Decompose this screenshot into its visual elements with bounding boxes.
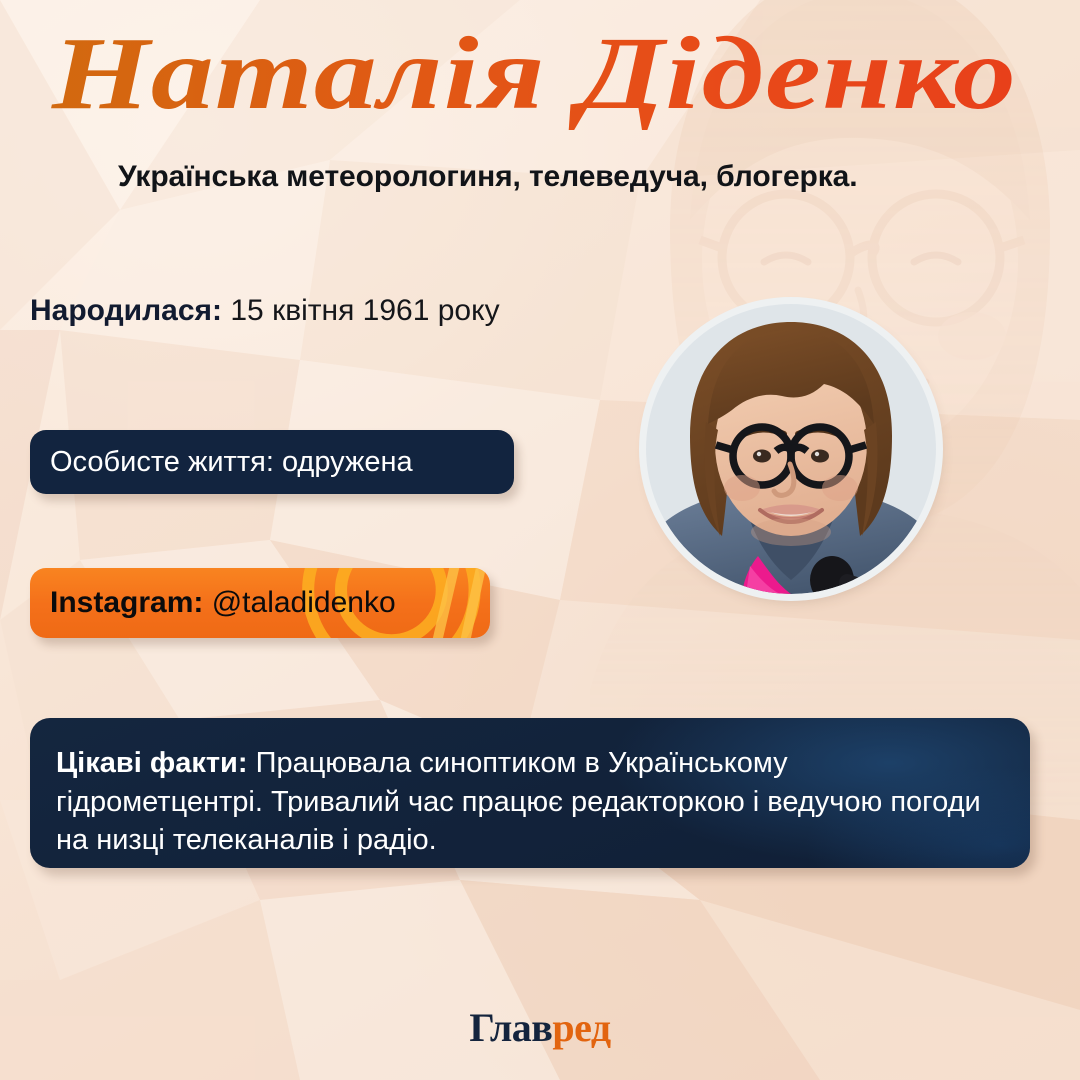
brand-logo[interactable]: Главред <box>0 1008 1080 1048</box>
born-line: Народилася: 15 квітня 1961 року <box>30 294 500 328</box>
brand-logo-part-b: ред <box>552 1005 610 1050</box>
portrait-avatar <box>646 304 936 594</box>
page-subtitle: Українська метеорологиня, телеведуча, бл… <box>118 160 858 194</box>
infographic-card: Наталія Діденко Українська метеорологиня… <box>0 0 1080 1080</box>
instagram-label: Instagram: <box>50 586 203 619</box>
born-value: 15 квітня 1961 року <box>230 294 499 327</box>
personal-life-badge: Особисте життя: одружена <box>30 430 514 494</box>
instagram-text: Instagram: @taladidenko <box>50 586 396 620</box>
page-title: Наталія Діденко <box>52 16 1042 136</box>
born-label: Народилася: <box>30 294 222 327</box>
instagram-badge[interactable]: Instagram: @taladidenko <box>30 568 490 638</box>
personal-life-text: Особисте життя: одружена <box>50 446 413 479</box>
facts-label: Цікаві факти: <box>56 747 248 779</box>
facts-content: Цікаві факти: Працювала синоптиком в Укр… <box>30 718 1030 860</box>
brand-logo-part-a: Глав <box>469 1005 552 1050</box>
portrait-illustration <box>646 304 936 594</box>
page-title-text: Наталія Діденко <box>51 16 1017 131</box>
instagram-handle: @taladidenko <box>212 586 396 619</box>
facts-box: Цікаві факти: Працювала синоптиком в Укр… <box>30 718 1030 868</box>
